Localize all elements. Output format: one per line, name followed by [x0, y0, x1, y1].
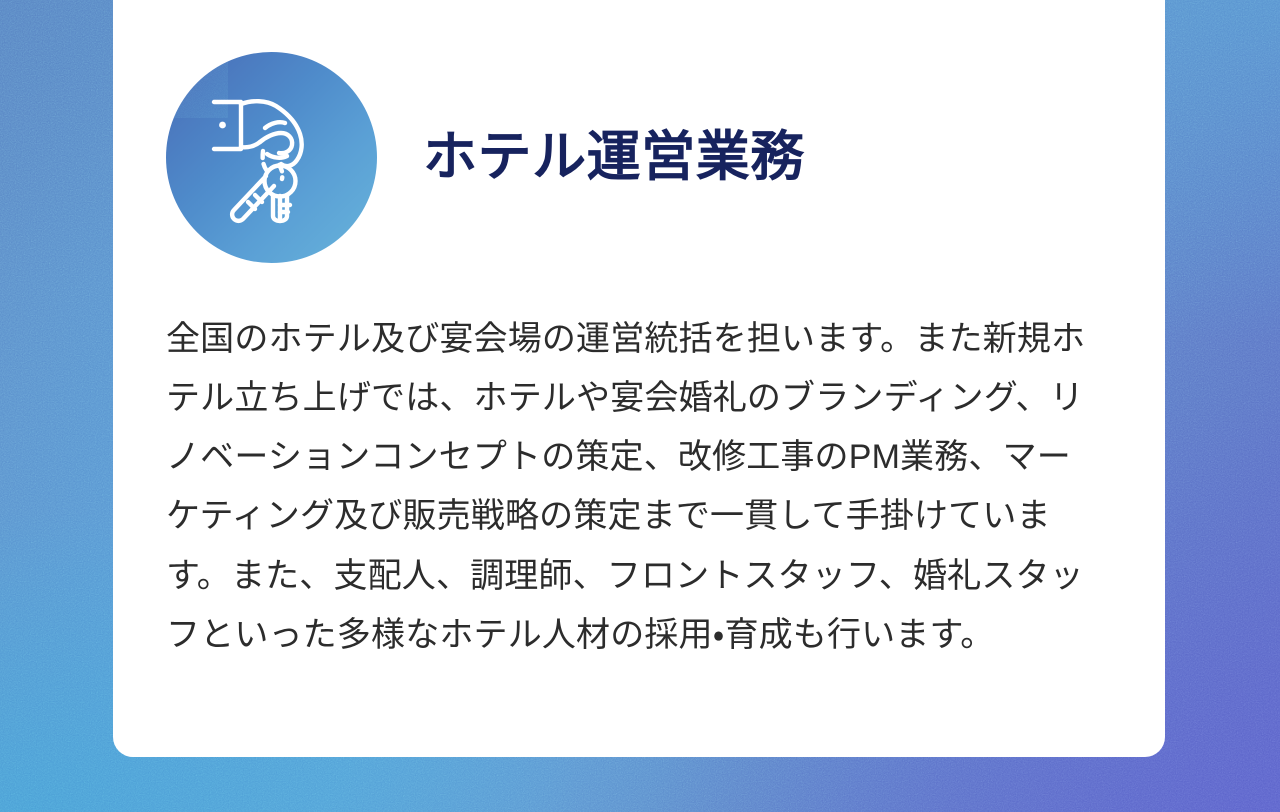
- hand-holding-keys-glyph: [210, 92, 334, 224]
- hand-holding-keys-icon: [166, 52, 377, 263]
- card-body: 全国のホテル及び宴会場の運営統括を担います。また新規ホテル立ち上げでは、ホテルや…: [113, 310, 1165, 665]
- body-paragraph: 全国のホテル及び宴会場の運営統括を担います。また新規ホテル立ち上げでは、ホテルや…: [166, 310, 1105, 665]
- page-title: ホテル運営業務: [423, 129, 805, 186]
- card-header: ホテル運営業務: [113, 0, 1165, 263]
- content-card: ホテル運営業務 全国のホテル及び宴会場の運営統括を担います。また新規ホテル立ち上…: [113, 0, 1165, 757]
- page-background: ホテル運営業務 全国のホテル及び宴会場の運営統括を担います。また新規ホテル立ち上…: [0, 0, 1280, 812]
